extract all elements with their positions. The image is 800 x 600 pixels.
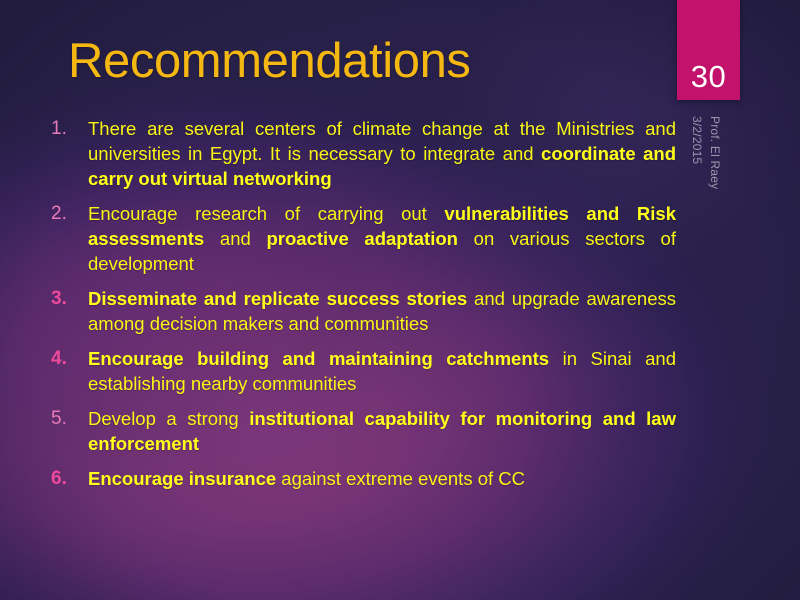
list-item-text: Disseminate and replicate success storie… [88,286,676,336]
plain-text: against extreme events of CC [276,468,525,489]
emphasis-text: Encourage insurance [88,468,276,489]
slide-author: Prof. El Raey [708,116,722,189]
page-number-text: 30 [691,61,726,92]
list-item: 2.Encourage research of carrying out vul… [48,201,676,276]
emphasis-text: proactive adaptation [266,228,457,249]
list-item-number: 2. [48,201,88,226]
plain-text: Develop a strong [88,408,249,429]
presentation-slide: Recommendations 30 3/2/2015 Prof. El Rae… [0,0,800,600]
emphasis-text: Disseminate and replicate success storie… [88,288,467,309]
list-item: 1.There are several centers of climate c… [48,116,676,191]
list-item: 4.Encourage building and maintaining cat… [48,346,676,396]
plain-text: and [204,228,266,249]
list-item-number: 3. [48,286,88,311]
list-item-number: 1. [48,116,88,141]
slide-date: 3/2/2015 [690,116,704,164]
list-item-number: 4. [48,346,88,371]
list-item-text: Develop a strong institutional capabilit… [88,406,676,456]
list-item-text: Encourage research of carrying out vulne… [88,201,676,276]
page-title: Recommendations [68,37,471,86]
emphasis-text: Encourage building and maintaining catch… [88,348,549,369]
list-item: 3.Disseminate and replicate success stor… [48,286,676,336]
slide-meta-sidebar: 3/2/2015 Prof. El Raey [688,116,734,246]
list-item-text: Encourage insurance against extreme even… [88,466,676,491]
list-item-text: Encourage building and maintaining catch… [88,346,676,396]
page-number-badge: 30 [677,0,740,100]
list-item-text: There are several centers of climate cha… [88,116,676,191]
list-item: 5.Develop a strong institutional capabil… [48,406,676,456]
list-item-number: 6. [48,466,88,491]
list-item-number: 5. [48,406,88,431]
list-item: 6.Encourage insurance against extreme ev… [48,466,676,491]
recommendations-list: 1.There are several centers of climate c… [48,116,676,501]
plain-text: Encourage research of carrying out [88,203,444,224]
